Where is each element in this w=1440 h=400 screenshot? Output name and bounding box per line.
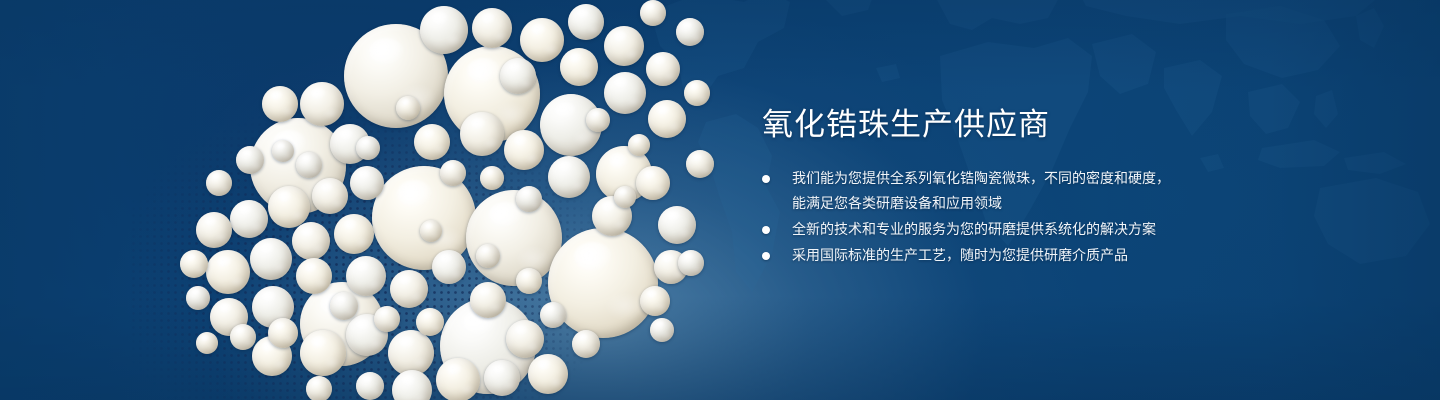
bead — [180, 250, 208, 278]
bead — [560, 48, 598, 86]
list-item-line: 能满足您各类研磨设备和应用领域 — [792, 191, 1282, 216]
list-item-line: 我们能为您提供全系列氧化锆陶瓷微珠，不同的密度和硬度， — [792, 166, 1282, 191]
bead — [646, 52, 680, 86]
bead — [356, 372, 384, 400]
bead — [528, 354, 568, 394]
bead — [628, 134, 650, 156]
bead — [420, 220, 442, 242]
bead — [350, 166, 384, 200]
bead — [470, 282, 506, 318]
bead — [636, 166, 670, 200]
bead — [236, 146, 264, 174]
bead — [658, 206, 696, 244]
bead — [416, 308, 444, 336]
bead — [516, 186, 542, 212]
bead — [472, 8, 512, 48]
hero-banner: 氧化锆珠生产供应商 我们能为您提供全系列氧化锆陶瓷微珠，不同的密度和硬度， 能满… — [0, 0, 1440, 400]
bead — [306, 376, 332, 400]
bead — [312, 178, 348, 214]
bead — [640, 286, 670, 316]
page-title: 氧化锆珠生产供应商 — [762, 106, 1282, 144]
bead — [640, 0, 666, 26]
bead — [460, 112, 504, 156]
feature-list: 我们能为您提供全系列氧化锆陶瓷微珠，不同的密度和硬度， 能满足您各类研磨设备和应… — [762, 166, 1282, 268]
bullet-dot-icon — [762, 226, 770, 234]
bead — [686, 150, 714, 178]
bead — [614, 186, 636, 208]
bead — [676, 18, 704, 46]
bead — [300, 330, 346, 376]
bead — [604, 26, 644, 66]
bead — [466, 190, 562, 286]
bead — [250, 238, 292, 280]
bead — [292, 222, 330, 260]
bead — [390, 270, 428, 308]
bead — [572, 330, 600, 358]
bead — [420, 6, 468, 54]
bead — [650, 318, 674, 342]
bead — [330, 292, 358, 320]
list-item: 我们能为您提供全系列氧化锆陶瓷微珠，不同的密度和硬度， 能满足您各类研磨设备和应… — [762, 166, 1282, 216]
bead — [432, 250, 466, 284]
list-item: 采用国际标准的生产工艺，随时为您提供研磨介质产品 — [762, 243, 1282, 268]
bead — [230, 200, 268, 238]
bead — [392, 370, 432, 400]
bead — [296, 258, 332, 294]
bead — [296, 152, 322, 178]
bead — [300, 82, 344, 126]
bead — [262, 86, 298, 122]
bead — [504, 130, 544, 170]
bead — [484, 360, 520, 396]
bead — [334, 214, 374, 254]
bead — [230, 324, 256, 350]
zirconia-beads-image — [0, 0, 740, 400]
list-item-line: 采用国际标准的生产工艺，随时为您提供研磨介质产品 — [792, 243, 1282, 268]
bead — [346, 256, 386, 296]
bead — [506, 320, 544, 358]
bead — [684, 80, 710, 106]
bead — [520, 18, 564, 62]
bead — [374, 306, 400, 332]
bead — [480, 166, 504, 190]
bead — [500, 58, 536, 94]
list-item: 全新的技术和专业的服务为您的研磨提供系统化的解决方案 — [762, 217, 1282, 242]
bead — [206, 250, 250, 294]
bullet-dot-icon — [762, 252, 770, 260]
bead — [604, 72, 646, 114]
bead — [196, 332, 218, 354]
bead — [586, 108, 610, 132]
bead — [196, 212, 232, 248]
bead — [396, 96, 420, 120]
bead — [272, 140, 294, 162]
bead — [440, 160, 466, 186]
bullet-dot-icon — [762, 175, 770, 183]
bead — [548, 228, 658, 338]
bead — [268, 318, 298, 348]
bead — [436, 358, 480, 400]
banner-copy: 氧化锆珠生产供应商 我们能为您提供全系列氧化锆陶瓷微珠，不同的密度和硬度， 能满… — [762, 106, 1282, 269]
bead — [516, 268, 542, 294]
bead — [678, 250, 704, 276]
bead — [476, 244, 500, 268]
bead — [548, 156, 590, 198]
bead — [356, 136, 380, 160]
bead — [268, 186, 310, 228]
bead — [186, 286, 210, 310]
bead — [568, 4, 604, 40]
bead — [414, 124, 450, 160]
list-item-line: 全新的技术和专业的服务为您的研磨提供系统化的解决方案 — [792, 217, 1282, 242]
bead — [648, 100, 686, 138]
bead — [540, 302, 566, 328]
bead — [206, 170, 232, 196]
